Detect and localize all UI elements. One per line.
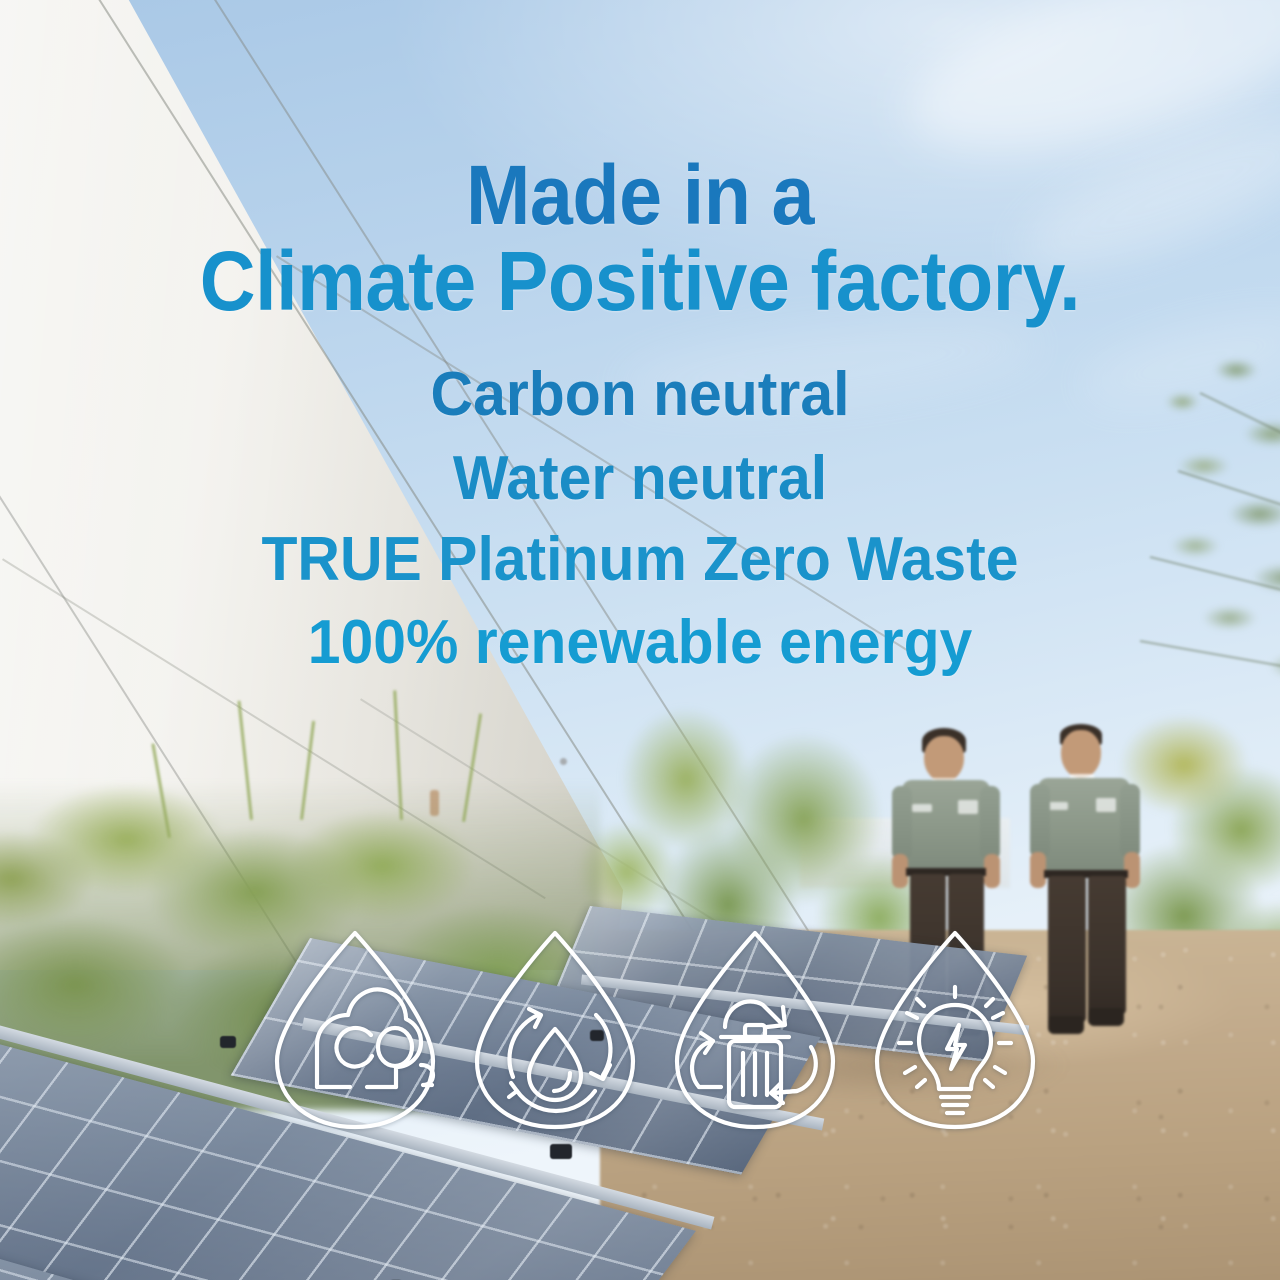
claim-water-neutral: Water neutral [32, 447, 1248, 511]
sustainability-icon-row [255, 925, 1055, 1135]
worker-forearm [984, 854, 1000, 888]
worker-arm [980, 786, 1000, 860]
worker-shirt [902, 780, 990, 872]
icon-cell-water-neutral [455, 925, 655, 1135]
worker-arm [892, 786, 912, 860]
solar-panel-bolt [550, 1144, 572, 1159]
solar-panel-bolt [220, 1036, 236, 1048]
worker-head [1061, 730, 1101, 778]
icon-cell-zero-waste [655, 925, 855, 1135]
worker-shirt [1038, 778, 1130, 874]
headline-line-1: Made in a [51, 152, 1229, 238]
worker-shoe [1088, 1008, 1124, 1026]
worker-name-patch [1048, 802, 1068, 810]
promo-image-canvas: Made in a Climate Positive factory. Carb… [0, 0, 1280, 1280]
claim-carbon-neutral: Carbon neutral [32, 363, 1248, 427]
worker-arm [1120, 784, 1140, 858]
renewable-energy-droplet-icon [855, 925, 1055, 1135]
co2-cloud-droplet-icon [255, 925, 455, 1135]
worker-head [924, 736, 964, 782]
worker-logo-patch [1096, 798, 1116, 812]
icon-cell-renewable-energy [855, 925, 1055, 1135]
zero-waste-droplet-icon [655, 925, 855, 1135]
worker-logo-patch [958, 800, 978, 814]
worker-arm [1030, 784, 1050, 858]
worker-pant-leg [1088, 876, 1126, 1014]
worker-name-patch [912, 804, 932, 812]
headline-line-2: Climate Positive factory. [51, 238, 1229, 324]
claim-renewable-energy: 100% renewable energy [32, 611, 1248, 675]
claim-zero-waste: TRUE Platinum Zero Waste [32, 528, 1248, 592]
water-recycle-droplet-icon [455, 925, 655, 1135]
icon-cell-carbon-neutral [255, 925, 455, 1135]
